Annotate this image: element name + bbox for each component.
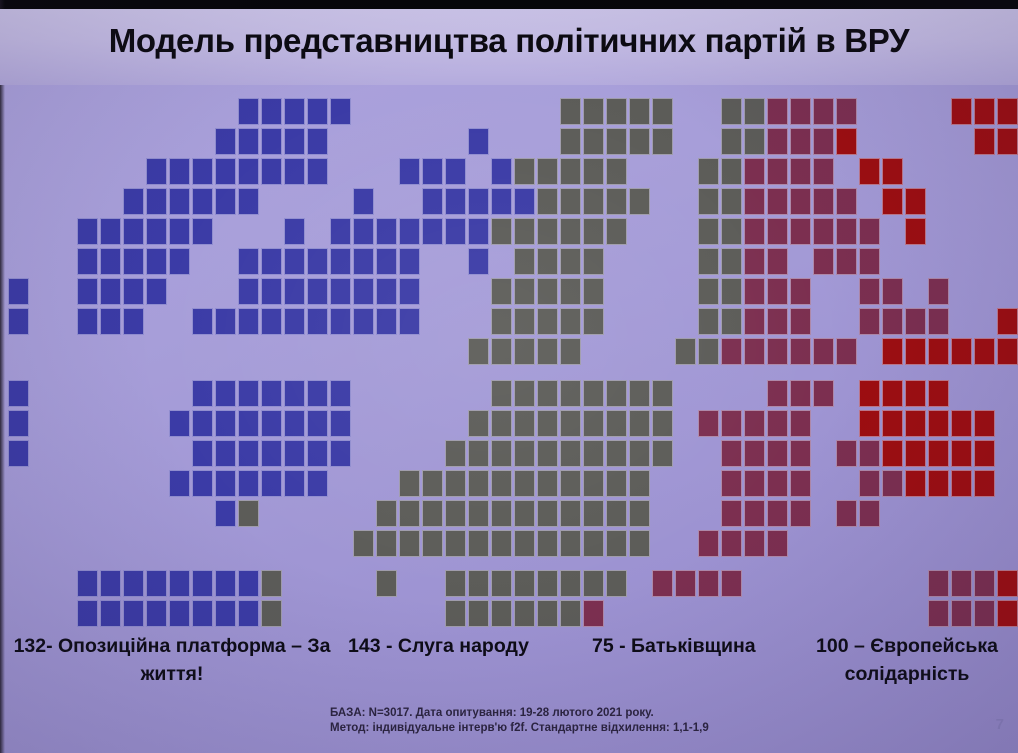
seat-cell	[721, 570, 742, 597]
seat-cell	[744, 500, 765, 527]
seat-cell	[261, 98, 282, 125]
seat-cell	[974, 570, 995, 597]
seat-cell	[169, 158, 190, 185]
seat-cell	[537, 218, 558, 245]
seat-cell	[859, 470, 880, 497]
seat-cell	[445, 500, 466, 527]
seat-cell	[790, 338, 811, 365]
seat-cell	[468, 218, 489, 245]
seat-cell	[951, 440, 972, 467]
seat-cell	[905, 218, 926, 245]
seat-cell	[146, 218, 167, 245]
seat-cell	[560, 500, 581, 527]
seat-cell	[974, 410, 995, 437]
seat-cell	[307, 308, 328, 335]
seat-cell	[77, 308, 98, 335]
seat-cell	[560, 98, 581, 125]
seat-cell	[629, 470, 650, 497]
seat-cell	[951, 470, 972, 497]
seat-cell	[77, 570, 98, 597]
seat-cell	[468, 500, 489, 527]
seat-cell	[905, 308, 926, 335]
seat-cell	[813, 218, 834, 245]
seat-cell	[192, 410, 213, 437]
seat-cell	[445, 188, 466, 215]
seat-cell	[583, 600, 604, 627]
seat-cell	[100, 218, 121, 245]
seat-cell	[744, 188, 765, 215]
seat-cell	[330, 248, 351, 275]
seat-cell	[560, 248, 581, 275]
seat-cell	[238, 128, 259, 155]
seat-cell	[767, 530, 788, 557]
seat-cell	[882, 380, 903, 407]
seat-cell	[353, 530, 374, 557]
seat-cell	[606, 440, 627, 467]
seat-cell	[445, 440, 466, 467]
seat-cell	[560, 218, 581, 245]
seat-cell	[376, 308, 397, 335]
seat-cell	[790, 128, 811, 155]
seat-cell	[951, 410, 972, 437]
seat-cell	[123, 308, 144, 335]
seat-cell	[537, 188, 558, 215]
seat-cell	[974, 470, 995, 497]
seat-cell	[951, 338, 972, 365]
seat-cell	[284, 410, 305, 437]
seat-cell	[721, 218, 742, 245]
seat-cell	[629, 500, 650, 527]
seat-cell	[767, 218, 788, 245]
seat-cell	[422, 500, 443, 527]
seat-cell	[652, 440, 673, 467]
seat-cell	[77, 600, 98, 627]
seat-cell	[905, 410, 926, 437]
seat-cell	[905, 380, 926, 407]
seat-cell	[744, 410, 765, 437]
seat-cell	[399, 530, 420, 557]
seat-cell	[123, 248, 144, 275]
seat-cell	[123, 278, 144, 305]
legend-item-red: 100 – Європейська солідарність	[798, 632, 1016, 688]
seat-cell	[468, 338, 489, 365]
seat-cell	[882, 278, 903, 305]
seat-cell	[445, 600, 466, 627]
seat-cell	[468, 128, 489, 155]
seat-cell	[928, 440, 949, 467]
seat-cell	[537, 380, 558, 407]
seat-cell	[77, 218, 98, 245]
seat-cell	[744, 338, 765, 365]
seat-cell	[606, 410, 627, 437]
seat-cell	[491, 308, 512, 335]
seat-cell	[560, 410, 581, 437]
seat-cell	[537, 570, 558, 597]
seat-cell	[790, 380, 811, 407]
seat-cell	[491, 470, 512, 497]
seat-cell	[905, 188, 926, 215]
seat-cell	[307, 248, 328, 275]
seat-cell	[376, 278, 397, 305]
page-title: Модель представництва політичних партій …	[0, 22, 1018, 60]
seat-cell	[77, 248, 98, 275]
seat-cell	[790, 500, 811, 527]
seat-cell	[629, 128, 650, 155]
seat-cell	[790, 158, 811, 185]
seat-cell	[468, 530, 489, 557]
seat-cell	[836, 338, 857, 365]
seat-cell	[261, 158, 282, 185]
seat-cell	[146, 600, 167, 627]
seat-cell	[422, 530, 443, 557]
seat-cell	[721, 530, 742, 557]
seat-cell	[583, 128, 604, 155]
seat-cell	[675, 570, 696, 597]
seat-cell	[514, 158, 535, 185]
seat-cell	[537, 410, 558, 437]
seat-cell	[353, 188, 374, 215]
seat-cell	[882, 338, 903, 365]
seat-cell	[537, 600, 558, 627]
seat-cell	[284, 128, 305, 155]
seat-cell	[514, 188, 535, 215]
seat-cell	[744, 470, 765, 497]
seat-cell	[560, 440, 581, 467]
seat-cell	[307, 128, 328, 155]
seat-cell	[169, 600, 190, 627]
seat-cell	[537, 338, 558, 365]
seat-cell	[491, 410, 512, 437]
seat-cell	[583, 500, 604, 527]
seat-cell	[744, 218, 765, 245]
seat-cell	[491, 530, 512, 557]
seat-cell	[238, 188, 259, 215]
seat-cell	[537, 470, 558, 497]
seat-cell	[192, 570, 213, 597]
seat-cell	[882, 410, 903, 437]
seat-cell	[744, 440, 765, 467]
seat-cell	[307, 410, 328, 437]
seat-cell	[192, 308, 213, 335]
seat-cell	[767, 470, 788, 497]
seat-cell	[123, 188, 144, 215]
seat-cell	[560, 158, 581, 185]
seat-cell	[330, 440, 351, 467]
seat-cell	[491, 218, 512, 245]
footnote-line-2: Метод: індивідуальне інтерв'ю f2f. Станд…	[330, 721, 890, 736]
seat-cell	[261, 278, 282, 305]
seat-cell	[468, 188, 489, 215]
seat-cell	[376, 500, 397, 527]
seat-cell	[928, 308, 949, 335]
seat-cell	[468, 410, 489, 437]
seat-cell	[606, 218, 627, 245]
seat-cell	[836, 248, 857, 275]
seat-cell	[491, 188, 512, 215]
seat-cell	[491, 278, 512, 305]
seat-cell	[698, 308, 719, 335]
seat-cell	[767, 500, 788, 527]
seat-cell	[583, 440, 604, 467]
seat-cell	[583, 278, 604, 305]
seat-cell	[376, 570, 397, 597]
seat-cell	[238, 278, 259, 305]
seat-cell	[813, 158, 834, 185]
seat-cell	[813, 98, 834, 125]
seat-cell	[790, 308, 811, 335]
seat-cell	[813, 188, 834, 215]
seat-cell	[514, 570, 535, 597]
seat-cell	[744, 158, 765, 185]
seat-cell	[997, 338, 1018, 365]
seat-cell	[330, 278, 351, 305]
seat-cell	[583, 470, 604, 497]
seat-cell	[560, 380, 581, 407]
seat-cell	[123, 600, 144, 627]
seat-cell	[790, 218, 811, 245]
seat-cell	[491, 380, 512, 407]
seat-cell	[514, 380, 535, 407]
slide-root: Модель представництва політичних партій …	[0, 0, 1018, 753]
seat-cell	[583, 530, 604, 557]
seat-cell	[468, 470, 489, 497]
seat-cell	[629, 440, 650, 467]
seat-cell	[238, 410, 259, 437]
seat-cell	[859, 278, 880, 305]
seat-cell	[583, 188, 604, 215]
seat-cell	[514, 410, 535, 437]
seat-cell	[353, 308, 374, 335]
seat-cell	[445, 570, 466, 597]
seat-cell	[560, 600, 581, 627]
seat-cell	[238, 570, 259, 597]
seat-cell	[836, 188, 857, 215]
seat-cell	[928, 600, 949, 627]
seat-cell	[307, 440, 328, 467]
seat-cell	[399, 470, 420, 497]
seat-cell	[261, 570, 282, 597]
seat-cell	[629, 188, 650, 215]
seat-cell	[652, 410, 673, 437]
seat-cell	[583, 308, 604, 335]
seat-cell	[721, 500, 742, 527]
seat-cell	[215, 500, 236, 527]
seat-cell	[836, 440, 857, 467]
seat-cell	[583, 570, 604, 597]
seat-cell	[767, 338, 788, 365]
seat-cell	[215, 308, 236, 335]
seat-cell	[698, 530, 719, 557]
seat-cell	[8, 308, 29, 335]
seat-cell	[192, 218, 213, 245]
seat-cell	[169, 188, 190, 215]
seat-cell	[399, 218, 420, 245]
seat-cell	[238, 470, 259, 497]
seat-cell	[514, 500, 535, 527]
seat-cell	[284, 380, 305, 407]
seat-cell	[284, 278, 305, 305]
seat-cell	[606, 380, 627, 407]
seat-cell	[238, 308, 259, 335]
seat-cell	[721, 278, 742, 305]
page-number: 7	[996, 716, 1004, 733]
seat-cell	[169, 470, 190, 497]
seat-cell	[422, 470, 443, 497]
seat-cell	[261, 410, 282, 437]
seat-cell	[629, 98, 650, 125]
seat-cell	[215, 440, 236, 467]
seat-cell	[399, 248, 420, 275]
seat-cell	[974, 338, 995, 365]
seat-cell	[514, 218, 535, 245]
seat-cell	[284, 308, 305, 335]
seat-cell	[698, 158, 719, 185]
seat-cell	[859, 218, 880, 245]
seat-cell	[514, 278, 535, 305]
seat-cell	[146, 570, 167, 597]
seat-cell	[491, 600, 512, 627]
seat-cell	[790, 188, 811, 215]
seat-cell	[123, 218, 144, 245]
seat-cell	[307, 158, 328, 185]
seat-cell	[997, 308, 1018, 335]
seat-cell	[192, 440, 213, 467]
seat-cell	[767, 278, 788, 305]
seat-cell	[537, 500, 558, 527]
seat-cell	[261, 440, 282, 467]
seat-cell	[997, 98, 1018, 125]
seat-cell	[8, 278, 29, 305]
seat-cell	[698, 188, 719, 215]
seat-cell	[330, 308, 351, 335]
seat-cell	[238, 600, 259, 627]
seat-cell	[284, 248, 305, 275]
seat-cell	[721, 158, 742, 185]
seat-cell	[859, 410, 880, 437]
seat-cell	[284, 98, 305, 125]
seat-cell	[330, 380, 351, 407]
seat-cell	[698, 218, 719, 245]
seat-cell	[192, 158, 213, 185]
seat-cell	[767, 158, 788, 185]
seat-cell	[882, 440, 903, 467]
seat-cell	[560, 570, 581, 597]
footnote: БАЗА: N=3017. Дата опитування: 19-28 лют…	[330, 706, 890, 736]
seat-cell	[790, 440, 811, 467]
seat-cell	[514, 338, 535, 365]
seat-cell	[997, 570, 1018, 597]
seat-cell	[491, 158, 512, 185]
seat-cell	[951, 570, 972, 597]
seat-cell	[560, 308, 581, 335]
seat-cell	[376, 218, 397, 245]
seat-cell	[652, 98, 673, 125]
seat-cell	[537, 440, 558, 467]
seat-cell	[836, 128, 857, 155]
seat-cell	[491, 338, 512, 365]
seat-cell	[215, 188, 236, 215]
seat-cell	[169, 570, 190, 597]
seat-cell	[422, 218, 443, 245]
seat-cell	[721, 188, 742, 215]
seat-cell	[606, 470, 627, 497]
seat-cell	[261, 128, 282, 155]
seat-cell	[836, 98, 857, 125]
seat-cell	[399, 278, 420, 305]
seat-cell	[790, 98, 811, 125]
seat-cell	[445, 470, 466, 497]
seat-cell	[767, 98, 788, 125]
seat-cell	[307, 278, 328, 305]
seat-cell	[744, 278, 765, 305]
seat-cell	[905, 338, 926, 365]
seat-cell	[238, 248, 259, 275]
seat-cell	[928, 380, 949, 407]
seat-cell	[307, 380, 328, 407]
seat-cell	[652, 380, 673, 407]
seat-cell	[836, 218, 857, 245]
seat-cell	[583, 158, 604, 185]
seat-cell	[583, 410, 604, 437]
seat-cell	[859, 440, 880, 467]
seat-cell	[100, 600, 121, 627]
seat-cell	[629, 380, 650, 407]
seat-cell	[215, 570, 236, 597]
seat-cell	[307, 98, 328, 125]
seat-cell	[790, 410, 811, 437]
seat-cell	[859, 158, 880, 185]
seat-cell	[537, 248, 558, 275]
seat-cell	[422, 188, 443, 215]
seat-cell	[307, 470, 328, 497]
seat-cell	[629, 410, 650, 437]
seat-cell	[261, 470, 282, 497]
seat-cell	[261, 248, 282, 275]
seat-cell	[698, 278, 719, 305]
seat-cell	[215, 600, 236, 627]
seat-cell	[284, 470, 305, 497]
seat-cell	[813, 380, 834, 407]
seat-cell	[997, 128, 1018, 155]
seat-cell	[146, 158, 167, 185]
seat-cell	[146, 188, 167, 215]
seat-cell	[261, 380, 282, 407]
seat-cell	[514, 600, 535, 627]
seat-cell	[238, 98, 259, 125]
legend: 132- Опозиційна платформа – За життя! 14…	[0, 632, 1018, 702]
seat-cell	[721, 470, 742, 497]
seat-cell	[422, 158, 443, 185]
seat-cell	[330, 218, 351, 245]
seat-cell	[744, 128, 765, 155]
seat-cell	[261, 600, 282, 627]
seat-cell	[652, 128, 673, 155]
seat-cell	[583, 248, 604, 275]
seat-cell	[951, 98, 972, 125]
seat-cell	[882, 158, 903, 185]
seat-cell	[238, 380, 259, 407]
seat-cell	[514, 530, 535, 557]
seat-cell	[445, 530, 466, 557]
seat-cell	[8, 410, 29, 437]
seat-cell	[767, 308, 788, 335]
seat-cell	[537, 308, 558, 335]
seat-cell	[169, 248, 190, 275]
seat-cell	[284, 440, 305, 467]
seat-cell	[353, 278, 374, 305]
seat-cell	[284, 158, 305, 185]
seat-cell	[721, 98, 742, 125]
